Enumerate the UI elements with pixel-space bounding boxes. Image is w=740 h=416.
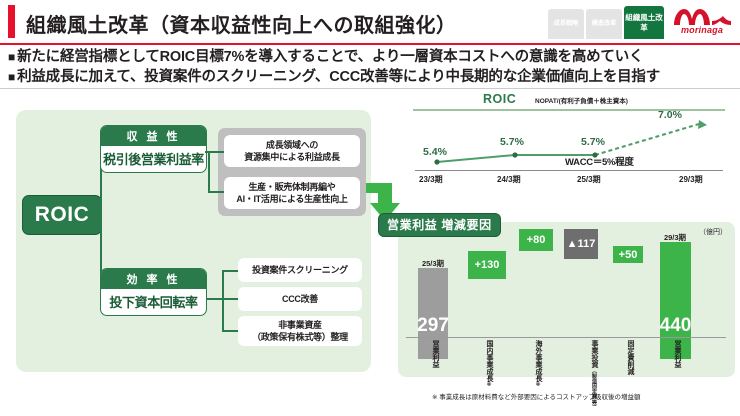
roic-line-chart: ROIC NOPAT/(有利子負債＋株主資本) 5.4% 5.7% 5.7% 7… — [405, 92, 735, 197]
wacc-annotation: WACC＝5%程度 — [565, 154, 634, 168]
morinaga-wordmark: morinaga — [670, 25, 734, 35]
bullet-text-2: 利益成長に加えて、投資案件のスクリーニング、CCC改善等により中長期的な企業価値… — [17, 69, 660, 85]
initiative-box: 成長領域への資源集中による利益成長 — [224, 135, 360, 167]
node-efficiency-metric: 投下資本回転率 — [101, 289, 206, 315]
bullet-square-icon: ■ — [8, 70, 15, 84]
chip-overseas-growth: +80 — [519, 229, 553, 251]
bullets-divider — [0, 88, 740, 89]
roic-value-29: 7.0% — [658, 109, 682, 121]
waterfall-xlabel-2: 海外事業成長※ — [529, 340, 543, 388]
chip-domestic-growth: +130 — [468, 251, 506, 279]
chip-business-investment: ▲117 — [564, 229, 598, 259]
initiative-box: CCC改善 — [238, 287, 362, 311]
waterfall-xlabel-1: 国内事業成長※ — [480, 340, 494, 388]
roic-tick-2: 25/3期 — [577, 174, 601, 185]
chip-fixed-cost-reduction: +50 — [613, 246, 643, 263]
section-tabs: 成長戦略 構造改革 組織風土改革 — [548, 6, 664, 39]
node-profitability-metric: 税引後営業利益率 — [101, 146, 206, 172]
bullet-item-1: ■新たに経営指標としてROIC目標7%を導入することで、より一層資本コストへの意… — [8, 47, 734, 67]
connector-profit-vertical — [208, 151, 210, 193]
bullet-text-1: 新たに経営指標としてROIC目標7%を導入することで、より一層資本コストへの意識… — [17, 49, 643, 65]
roic-value-23: 5.4% — [423, 146, 447, 158]
connector-eff-item1 — [222, 270, 238, 272]
roic-chart-title: ROIC — [483, 92, 516, 106]
connector-profit-item1 — [205, 151, 224, 153]
node-efficiency: 効 率 性 投下資本回転率 — [100, 268, 207, 316]
waterfall-xlabel-0: 営業利益 — [426, 340, 440, 368]
waterfall-unit-label: （億円） — [699, 227, 727, 237]
waterfall-baseline — [406, 337, 726, 338]
connector-eff-item3 — [222, 330, 238, 332]
initiative-box: 投資案件スクリーニング — [238, 258, 362, 282]
waterfall-xlabel-4: 固定費削減 — [621, 340, 635, 375]
morinaga-m-icon — [670, 7, 734, 26]
roic-tick-0: 23/3期 — [419, 174, 443, 185]
initiative-line-1: 成長領域への資源集中による利益成長 — [244, 139, 339, 163]
slide-header: 組織風土改革（資本収益性向上への取組強化） 成長戦略 構造改革 組織風土改革 m… — [0, 0, 740, 43]
roic-tick-1: 24/3期 — [497, 174, 521, 185]
node-profitability-head: 収 益 性 — [101, 126, 206, 146]
node-efficiency-head: 効 率 性 — [101, 269, 206, 289]
node-profitability: 収 益 性 税引後営業利益率 — [100, 125, 207, 173]
waterfall-xlabel-5: 営業利益 — [668, 340, 682, 368]
header-divider — [0, 43, 740, 45]
page-title: 組織風土改革（資本収益性向上への取組強化） — [26, 9, 457, 38]
bullet-square-icon: ■ — [8, 50, 15, 64]
roic-axis-line — [415, 170, 723, 171]
key-messages: ■新たに経営指標としてROIC目標7%を導入することで、より一層資本コストへの意… — [8, 47, 734, 87]
connector-eff-item2 — [222, 298, 238, 300]
morinaga-logo: morinaga — [670, 7, 734, 39]
connector-profit-item2 — [208, 191, 224, 193]
waterfall-footnote: ※ 事業成長は原材料費など外部要因によるコストアップ吸収後の増益額 — [432, 391, 641, 401]
connector-eff-vertical — [222, 270, 224, 331]
tab-culture-reform[interactable]: 組織風土改革 — [624, 6, 664, 39]
initiative-line-2: 生産・販売体制再編やAI・IT活用による生産性向上 — [236, 181, 347, 205]
roic-chart-subtitle: NOPAT/(有利子負債＋株主資本) — [535, 95, 628, 105]
initiative-line-3: 非事業資産（政策保有株式等）整理 — [252, 319, 348, 343]
roic-value-25: 5.7% — [581, 136, 605, 148]
tab-structural-reform[interactable]: 構造改革 — [586, 9, 622, 39]
title-accent-bar — [8, 5, 15, 38]
bullet-item-2: ■利益成長に加えて、投資案件のスクリーニング、CCC改善等により中長期的な企業価… — [8, 67, 734, 87]
initiative-box: 非事業資産（政策保有株式等）整理 — [238, 316, 362, 346]
roic-value-24: 5.7% — [500, 136, 524, 148]
roic-root-node: ROIC — [22, 195, 102, 235]
roic-tick-3: 29/3期 — [679, 174, 703, 185]
initiative-box: 生産・販売体制再編やAI・IT活用による生産性向上 — [224, 177, 360, 209]
waterfall-title: 営業利益 増減要因 — [378, 213, 501, 237]
tab-growth-strategy[interactable]: 成長戦略 — [548, 9, 584, 39]
